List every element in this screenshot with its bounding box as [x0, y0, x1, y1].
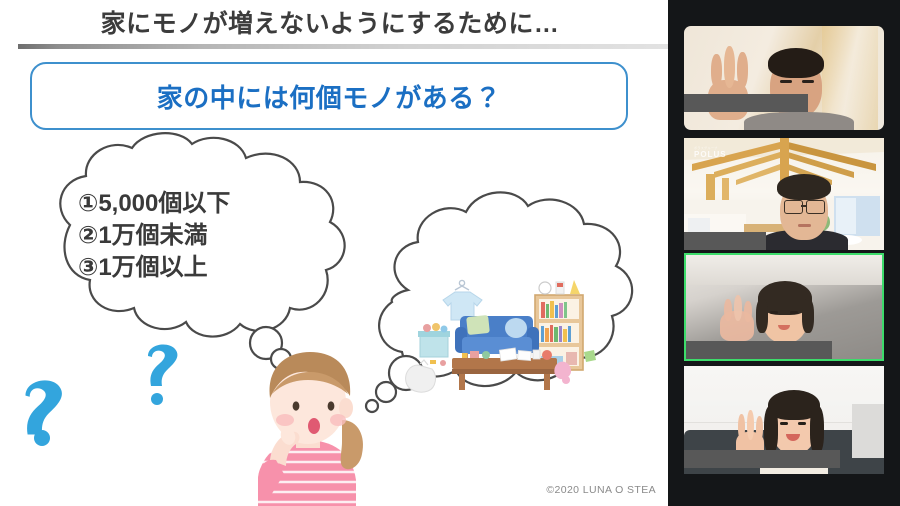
question-box-text: 家の中には何個モノがある？: [157, 78, 502, 115]
tile-1-eye-left: [780, 80, 792, 83]
tile-3-hair-side-left: [756, 299, 768, 333]
answer-list: ①5,000個以下 ②1万個未満 ③1万個以上: [78, 188, 378, 284]
tile-2-hair: [777, 174, 831, 200]
tile-4-eye-left: [780, 422, 788, 425]
answer-option-1: ①5,000個以下: [78, 188, 378, 220]
tile-2-polus-watermark: ポラスグループPOLUS: [694, 146, 727, 159]
tile-2-glasses-right: [806, 200, 825, 214]
tile-4-finger-3: [756, 416, 763, 441]
tile-1-torso: [744, 112, 854, 130]
tile-1-name-label-redacted: [684, 94, 808, 112]
tile-2-glasses-left: [784, 200, 803, 214]
question-box: 家の中には何個モノがある？: [30, 62, 628, 130]
question-marks-icon: [25, 345, 177, 446]
tile-1-eye-right: [802, 80, 814, 83]
video-tile-3-active-speaker[interactable]: [684, 253, 884, 361]
tile-3-hair-side-right: [802, 299, 814, 333]
tile-4-hair-side-right: [810, 406, 824, 454]
tile-1-finger-1: [711, 54, 722, 88]
bookshelf-icon: [535, 280, 583, 370]
title-divider-rule: [18, 44, 668, 49]
tile-4-eye-right: [798, 422, 806, 425]
tile-4-finger-1: [738, 414, 745, 440]
tile-4-name-label-redacted: [684, 450, 840, 468]
copyright-notice: ©2020 LUNA O STEA: [546, 484, 656, 496]
tile-3-finger-3: [744, 301, 752, 322]
tile-4-hair-side-left: [764, 406, 778, 454]
video-tile-4[interactable]: [684, 366, 884, 474]
tile-3-eye-right: [790, 311, 798, 314]
video-tile-1[interactable]: [684, 26, 884, 130]
answer-option-2: ②1万個未満: [78, 220, 378, 252]
tile-1-finger-2: [724, 46, 735, 88]
character-woman-thinking: [258, 352, 363, 506]
video-tile-2[interactable]: ポラスグループPOLUS: [684, 138, 884, 250]
tile-1-hair: [768, 48, 824, 78]
tile-4-appliance: [852, 404, 884, 458]
tile-2-glasses-bridge: [801, 205, 806, 207]
video-conference-panel: ポラスグループPOLUS: [668, 0, 900, 506]
screen-capture: 家にモノが増えないようにするために… 家の中には何個モノがある？: [0, 0, 900, 506]
tile-4-finger-2: [747, 410, 754, 440]
slide-title: 家にモノが増えないようにするために…: [0, 4, 660, 40]
tile-3-eye-left: [770, 311, 778, 314]
tile-2-mouth: [798, 224, 811, 227]
tile-2-name-label-redacted: [684, 232, 766, 250]
answer-option-3: ③1万個以上: [78, 252, 378, 284]
presentation-slide: 家にモノが増えないようにするために… 家の中には何個モノがある？: [0, 0, 668, 506]
tile-3-finger-1: [724, 299, 732, 321]
slide-illustration: [0, 130, 668, 506]
tile-3-name-label-redacted: [686, 341, 832, 359]
tile-3-finger-2: [734, 295, 742, 321]
tile-1-finger-3: [737, 52, 748, 88]
